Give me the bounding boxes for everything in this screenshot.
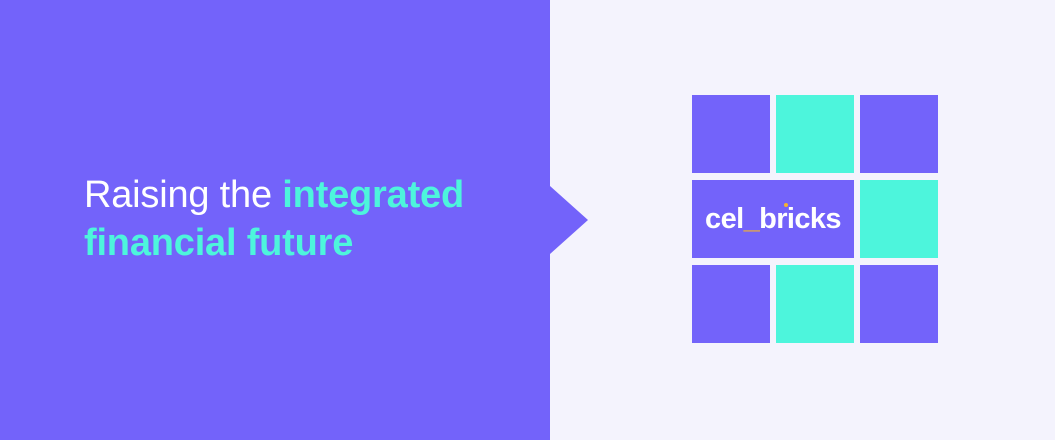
logo-tile-bottom-left (692, 265, 770, 343)
logo-tile-middle-right (860, 180, 938, 258)
chevron-right-icon (550, 186, 588, 254)
wordmark-suffix: bricks (759, 203, 841, 235)
logo-tile-bottom-right (860, 265, 938, 343)
promo-banner: Raising the integrated financial future … (0, 0, 1055, 440)
wordmark-i-dot-icon (784, 203, 788, 207)
brand-wordmark: cel_bricks (705, 205, 841, 234)
headline-lead: Raising the (84, 174, 282, 216)
logo-grid: cel_bricks (692, 95, 938, 343)
logo-tile-middle-wide: cel_bricks (692, 180, 854, 258)
logo-tile-top-right (860, 95, 938, 173)
logo-tile-top-center (776, 95, 854, 173)
wordmark-underscore: _ (744, 203, 760, 235)
headline-panel: Raising the integrated financial future (0, 0, 550, 440)
logo-tile-bottom-center (776, 265, 854, 343)
logo-tile-top-left (692, 95, 770, 173)
wordmark-prefix: cel (705, 203, 744, 235)
page-title: Raising the integrated financial future (84, 171, 514, 267)
